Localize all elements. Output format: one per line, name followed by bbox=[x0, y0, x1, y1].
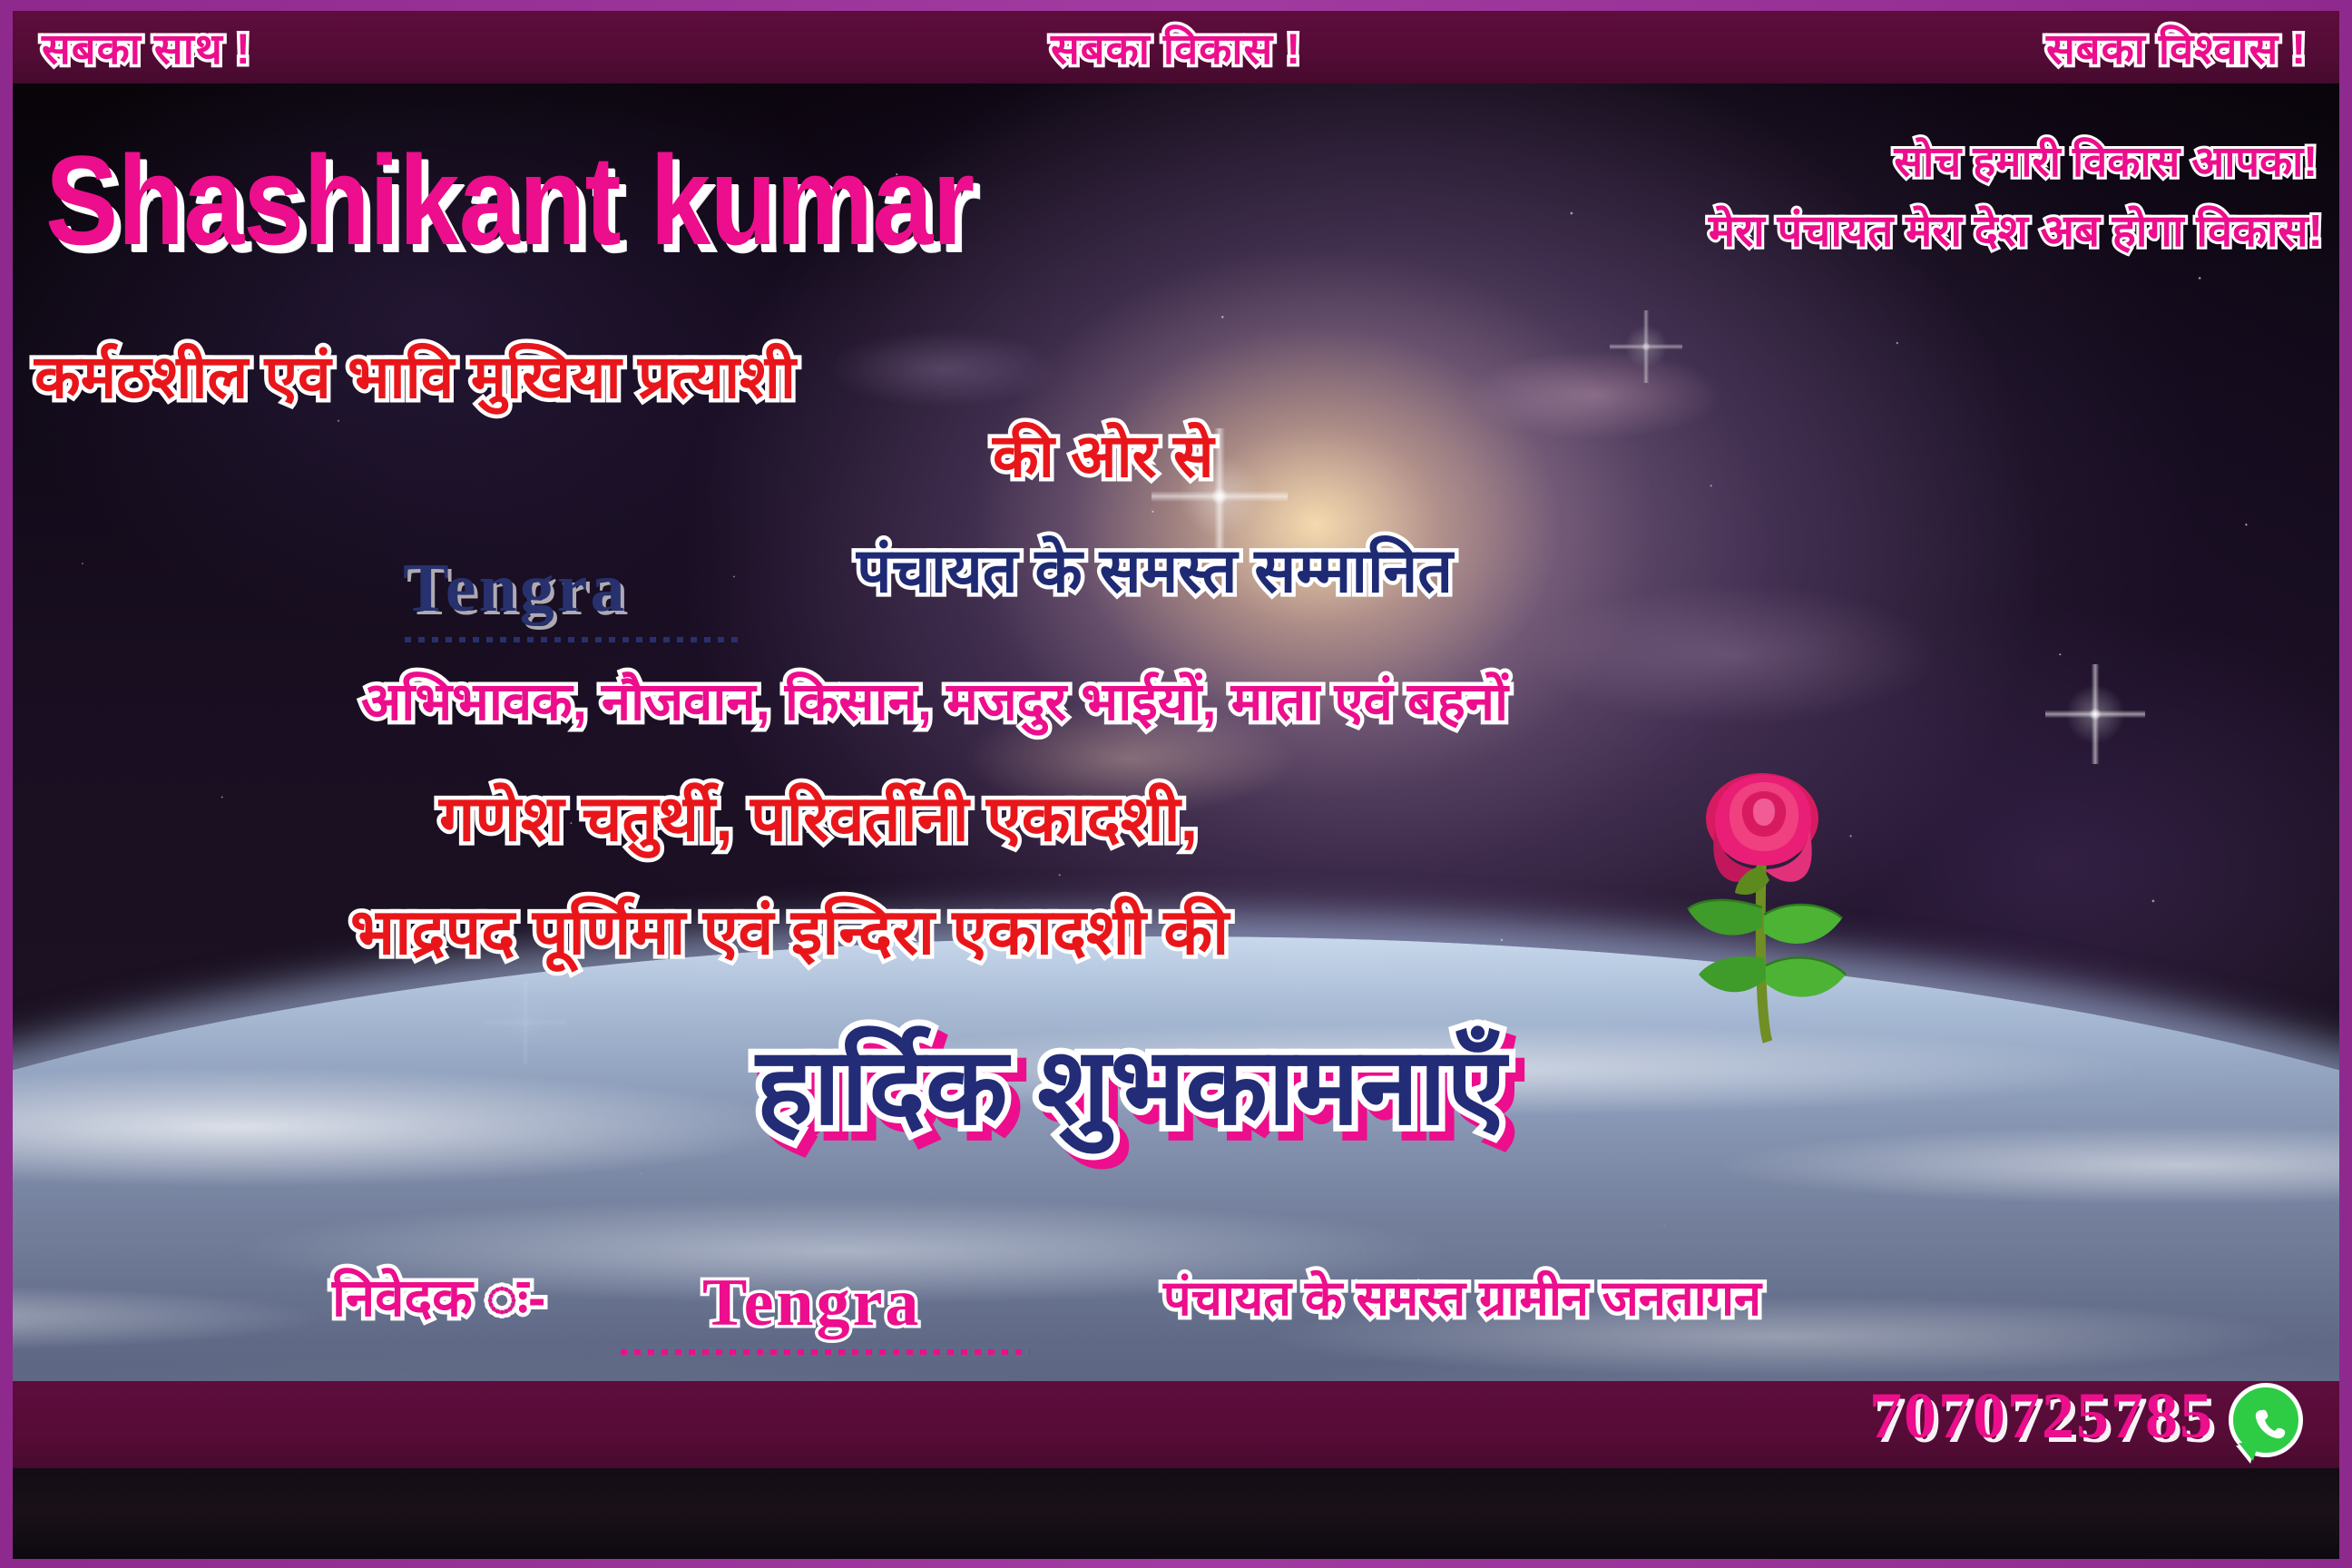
contact-phone-number[interactable]: 7070725785 bbox=[1869, 1378, 2214, 1454]
whatsapp-icon[interactable] bbox=[2229, 1383, 2303, 1457]
galaxy-background bbox=[13, 83, 2339, 1381]
election-greeting-poster: सबका साथ ! सबका विकास ! सबका विश्वास ! S… bbox=[0, 0, 2352, 1568]
slogan-sabka-vikas: सबका विकास ! bbox=[1051, 18, 1301, 76]
panchayat-name-top: Tengra bbox=[403, 549, 627, 628]
festival-line-1: गणेश चतुर्थी, परिवर्तीनी एकादशी, bbox=[439, 787, 1198, 850]
addressee-line-2: अभिभावक, नौजवान, किसान, मजदुर भाईयों, मा… bbox=[361, 676, 1508, 729]
signature-from: पंचायत के समस्त ग्रामीन जनतागन bbox=[1163, 1274, 1761, 1323]
tagline-soch-hamari: सोच हमारी विकास आपका! bbox=[1894, 140, 2318, 182]
festival-line-2: भाद्रपद पूर्णिमा एवं इन्दिरा एकादशी की bbox=[350, 900, 1229, 964]
on-behalf-of-text: की ओर से bbox=[993, 426, 1214, 485]
addressee-line-1: पंचायत के समस्त सम्मानित bbox=[857, 540, 1453, 602]
tagline-mera-panchayat: मेरा पंचायत मेरा देश अब होगा विकास! bbox=[1709, 210, 2323, 254]
top-slogan-bar: सबका साथ ! सबका विकास ! सबका विश्वास ! bbox=[13, 11, 2339, 83]
candidate-name: Shashikant kumar bbox=[45, 127, 974, 274]
signature-label: निवेदक ः- bbox=[332, 1272, 545, 1325]
panchayat-name-bottom: Tengra bbox=[702, 1265, 921, 1342]
greeting-hardik-shubhkamnaye: हार्दिक शुभकामनाएँ bbox=[756, 1009, 1505, 1155]
footer-promo-bar bbox=[13, 1468, 2339, 1559]
slogan-sabka-vishwas: सबका विश्वास ! bbox=[2046, 18, 2307, 76]
poster-inner-canvas: सबका साथ ! सबका विकास ! सबका विश्वास ! S… bbox=[13, 11, 2339, 1559]
slogan-sabka-saath: सबका साथ ! bbox=[42, 18, 251, 76]
candidate-designation: कर्मठशील एवं भावि मुखिया प्रत्याशी bbox=[34, 347, 796, 407]
rose-flower-icon bbox=[1675, 771, 1866, 1044]
